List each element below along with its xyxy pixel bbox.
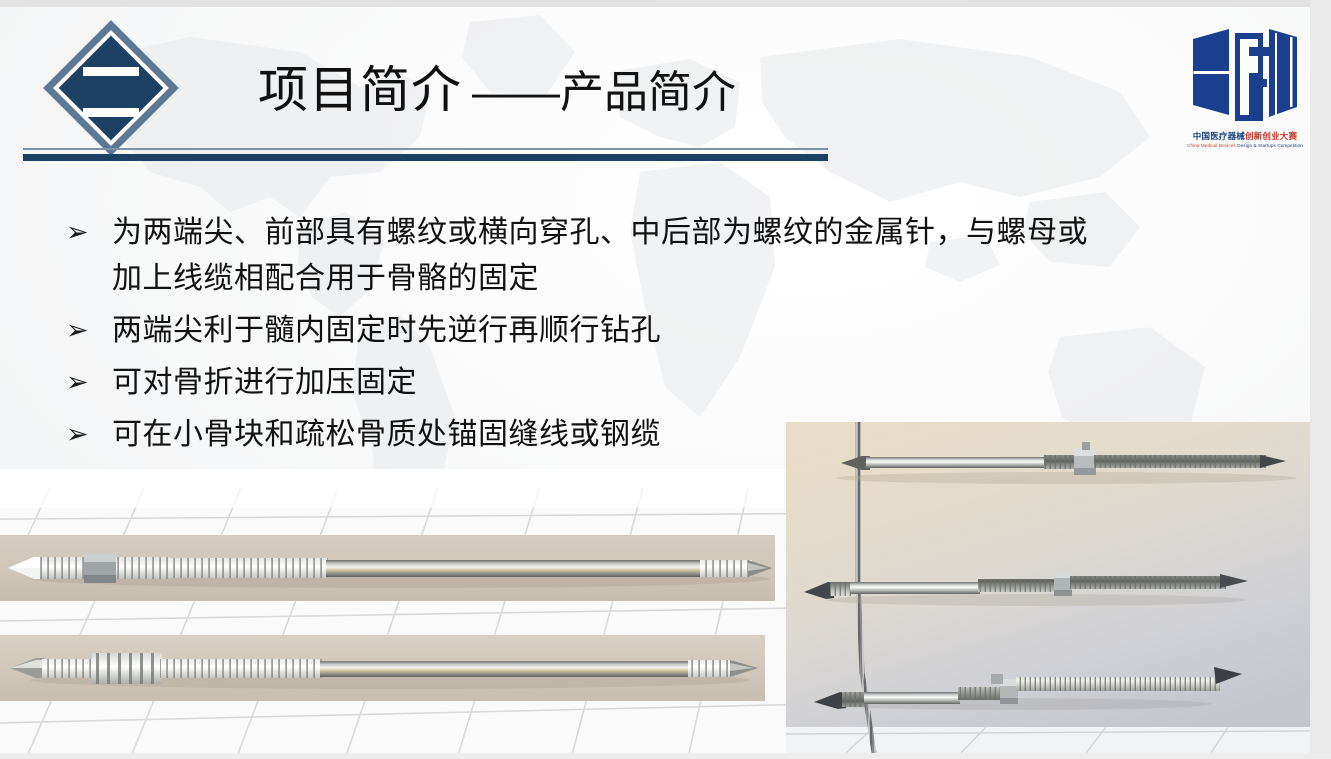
floor-tile-pattern — [0, 469, 786, 753]
page-frame-right — [1310, 0, 1331, 759]
competition-logo-en-text: China Medical Devices Design & Startups … — [1182, 143, 1308, 148]
bullet-line: 加上线缆相配合用于骨骼的固定 — [112, 256, 1088, 302]
threaded-pin-photo — [0, 635, 765, 701]
list-item: ➢ 两端尖利于髓内固定时先逆行再顺行钻孔 — [58, 308, 1238, 354]
bullet-text: 两端尖利于髓内固定时先逆行再顺行钻孔 — [112, 308, 661, 354]
bullet-text: 为两端尖、前部具有螺纹或横向穿孔、中后部为螺纹的金属针，与螺母或 加上线缆相配合… — [112, 210, 1088, 302]
page-frame-top — [0, 0, 1331, 7]
bullet-line: 可在小骨块和疏松骨质处锚固缝线或钢缆 — [112, 418, 661, 451]
competition-logo-cn-text: 中国医疗器械创新创业大赛 — [1182, 130, 1308, 142]
bullet-arrow-icon: ➢ — [58, 210, 112, 256]
bullet-line: 两端尖利于髓内固定时先逆行再顺行钻孔 — [112, 314, 661, 347]
three-pins-with-cable-photo — [786, 422, 1310, 753]
title-sub-text: ——产品简介 — [472, 68, 736, 117]
page-frame-bottom — [0, 753, 1331, 759]
title-rule-thin — [23, 148, 828, 150]
bullet-arrow-icon: ➢ — [58, 412, 112, 458]
threaded-pin-with-nut-photo — [0, 535, 775, 601]
bullet-text: 可在小骨块和疏松骨质处锚固缝线或钢缆 — [112, 412, 661, 458]
bullet-line: 为两端尖、前部具有螺纹或横向穿孔、中后部为螺纹的金属针，与螺母或 — [112, 216, 1088, 249]
title-rule-thick — [23, 154, 828, 161]
list-item: ➢ 可对骨折进行加压固定 — [58, 360, 1238, 406]
bullet-text: 可对骨折进行加压固定 — [112, 360, 417, 406]
competition-logo-cn-plain: 中国医疗器械 — [1193, 131, 1245, 141]
title-main-text: 项目简介 — [258, 62, 462, 118]
open-door-icon — [1191, 27, 1299, 127]
double-diamond-logo — [36, 13, 186, 163]
tiled-floor-backdrop-photo — [0, 469, 786, 753]
presentation-slide: 项目简介——产品简介 — [0, 0, 1331, 759]
competition-logo: 中国医疗器械创新创业大赛 China Medical Devices Desig… — [1182, 27, 1308, 177]
page-title: 项目简介——产品简介 — [258, 65, 736, 115]
competition-logo-cn-accent: 创新创业大赛 — [1245, 131, 1297, 141]
slide-canvas: 项目简介——产品简介 — [0, 7, 1310, 753]
competition-logo-en-accent: China Medical Devices — [1187, 143, 1236, 148]
list-item: ➢ 为两端尖、前部具有螺纹或横向穿孔、中后部为螺纹的金属针，与螺母或 加上线缆相… — [58, 210, 1238, 302]
bullet-arrow-icon: ➢ — [58, 308, 112, 354]
competition-logo-en-plain: Design & Startups Competition — [1236, 143, 1303, 148]
bullet-line: 可对骨折进行加压固定 — [112, 366, 417, 399]
bullet-arrow-icon: ➢ — [58, 360, 112, 406]
